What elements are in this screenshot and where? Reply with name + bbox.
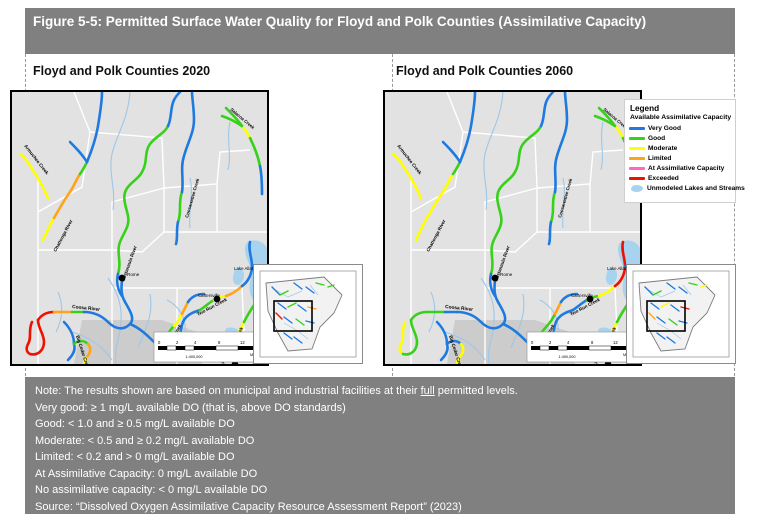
legend-item-good: Good — [629, 133, 732, 143]
legend: Legend Available Assimilative Capacity V… — [624, 99, 736, 203]
svg-text:Cartersville: Cartersville — [198, 293, 221, 298]
legend-label-good: Good — [648, 135, 665, 142]
svg-text:1:400,000: 1:400,000 — [559, 355, 576, 359]
notes-block: Note: The results shown are based on mun… — [25, 377, 735, 514]
legend-item-unmodeled: Unmodeled Lakes and Streams — [629, 183, 732, 193]
note-line-1: Very good: ≥ 1 mg/L available DO (that i… — [35, 400, 725, 417]
legend-label-exceeded: Exceeded — [648, 175, 679, 182]
legend-item-moderate: Moderate — [629, 143, 732, 153]
legend-line-at-capacity-icon — [629, 166, 645, 170]
legend-item-at-assimilative-capacity: At Assimilative Capacity — [629, 163, 732, 173]
inset-map-2060 — [626, 264, 736, 364]
note-line-6: No assimilative capacity: < 0 mg/L avail… — [35, 482, 725, 499]
svg-text:12: 12 — [613, 340, 618, 345]
note-line-3: Moderate: < 0.5 and ≥ 0.2 mg/L available… — [35, 433, 725, 450]
map-2060[interactable]: Rome Cartersville Lake Allatoona Lake Ac… — [383, 90, 642, 366]
inset-map-2020 — [253, 264, 363, 364]
inset-svg-2020 — [254, 265, 362, 363]
inset-svg-2060 — [627, 265, 735, 363]
svg-text:12: 12 — [240, 340, 245, 345]
legend-label-limited: Limited — [648, 155, 671, 162]
legend-label-very-good: Very Good — [648, 125, 681, 132]
legend-item-exceeded: Exceeded — [629, 173, 732, 183]
panel-heading-2020: Floyd and Polk Counties 2020 — [33, 64, 210, 78]
svg-text:Rome: Rome — [500, 272, 513, 277]
legend-label-moderate: Moderate — [648, 145, 677, 152]
legend-subtitle: Available Assimilative Capacity — [630, 114, 732, 121]
map-2020[interactable]: Rome Cartersville Lake Allatoona Lake Ac… — [10, 90, 269, 366]
map-canvas-2060: Rome Cartersville Lake Allatoona Lake Ac… — [385, 92, 640, 364]
note-line-5: At Assimilative Capacity: 0 mg/L availab… — [35, 466, 725, 483]
legend-line-good-icon — [629, 136, 645, 140]
legend-line-exceeded-icon — [629, 176, 645, 180]
legend-lake-polygon-icon — [631, 185, 643, 192]
legend-line-very-good-icon — [629, 126, 645, 130]
scalebar-2020: 02 48 1216 Miles 1:400,000 — [154, 332, 266, 362]
note-line-4: Limited: < 0.2 and > 0 mg/L available DO — [35, 449, 725, 466]
svg-text:Rome: Rome — [127, 272, 140, 277]
legend-item-limited: Limited — [629, 153, 732, 163]
note-line-2: Good: < 1.0 and ≥ 0.5 mg/L available DO — [35, 416, 725, 433]
legend-label-unmodeled: Unmodeled Lakes and Streams — [647, 185, 745, 192]
figure-container: Figure 5-5: Permitted Surface Water Qual… — [0, 0, 760, 522]
svg-text:Cartersville: Cartersville — [571, 293, 594, 298]
scalebar-2060: 02 48 1216 Miles 1:400,000 — [527, 332, 639, 362]
map-canvas-2020: Rome Cartersville Lake Allatoona Lake Ac… — [12, 92, 267, 364]
legend-line-moderate-icon — [629, 146, 645, 150]
legend-label-at-assimilative-capacity: At Assimilative Capacity — [648, 165, 724, 172]
map-svg-2020: Rome Cartersville Lake Allatoona Lake Ac… — [12, 92, 267, 364]
note-source: Source: “Dissolved Oxygen Assimilative C… — [35, 499, 725, 516]
map-svg-2060: Rome Cartersville Lake Allatoona Lake Ac… — [385, 92, 640, 364]
legend-item-very-good: Very Good — [629, 123, 732, 133]
svg-text:1:400,000: 1:400,000 — [186, 355, 203, 359]
panel-heading-2060: Floyd and Polk Counties 2060 — [396, 64, 573, 78]
legend-title: Legend — [630, 104, 732, 113]
legend-line-limited-icon — [629, 156, 645, 160]
note-line-0: Note: The results shown are based on mun… — [35, 383, 725, 400]
figure-title: Figure 5-5: Permitted Surface Water Qual… — [25, 8, 735, 54]
